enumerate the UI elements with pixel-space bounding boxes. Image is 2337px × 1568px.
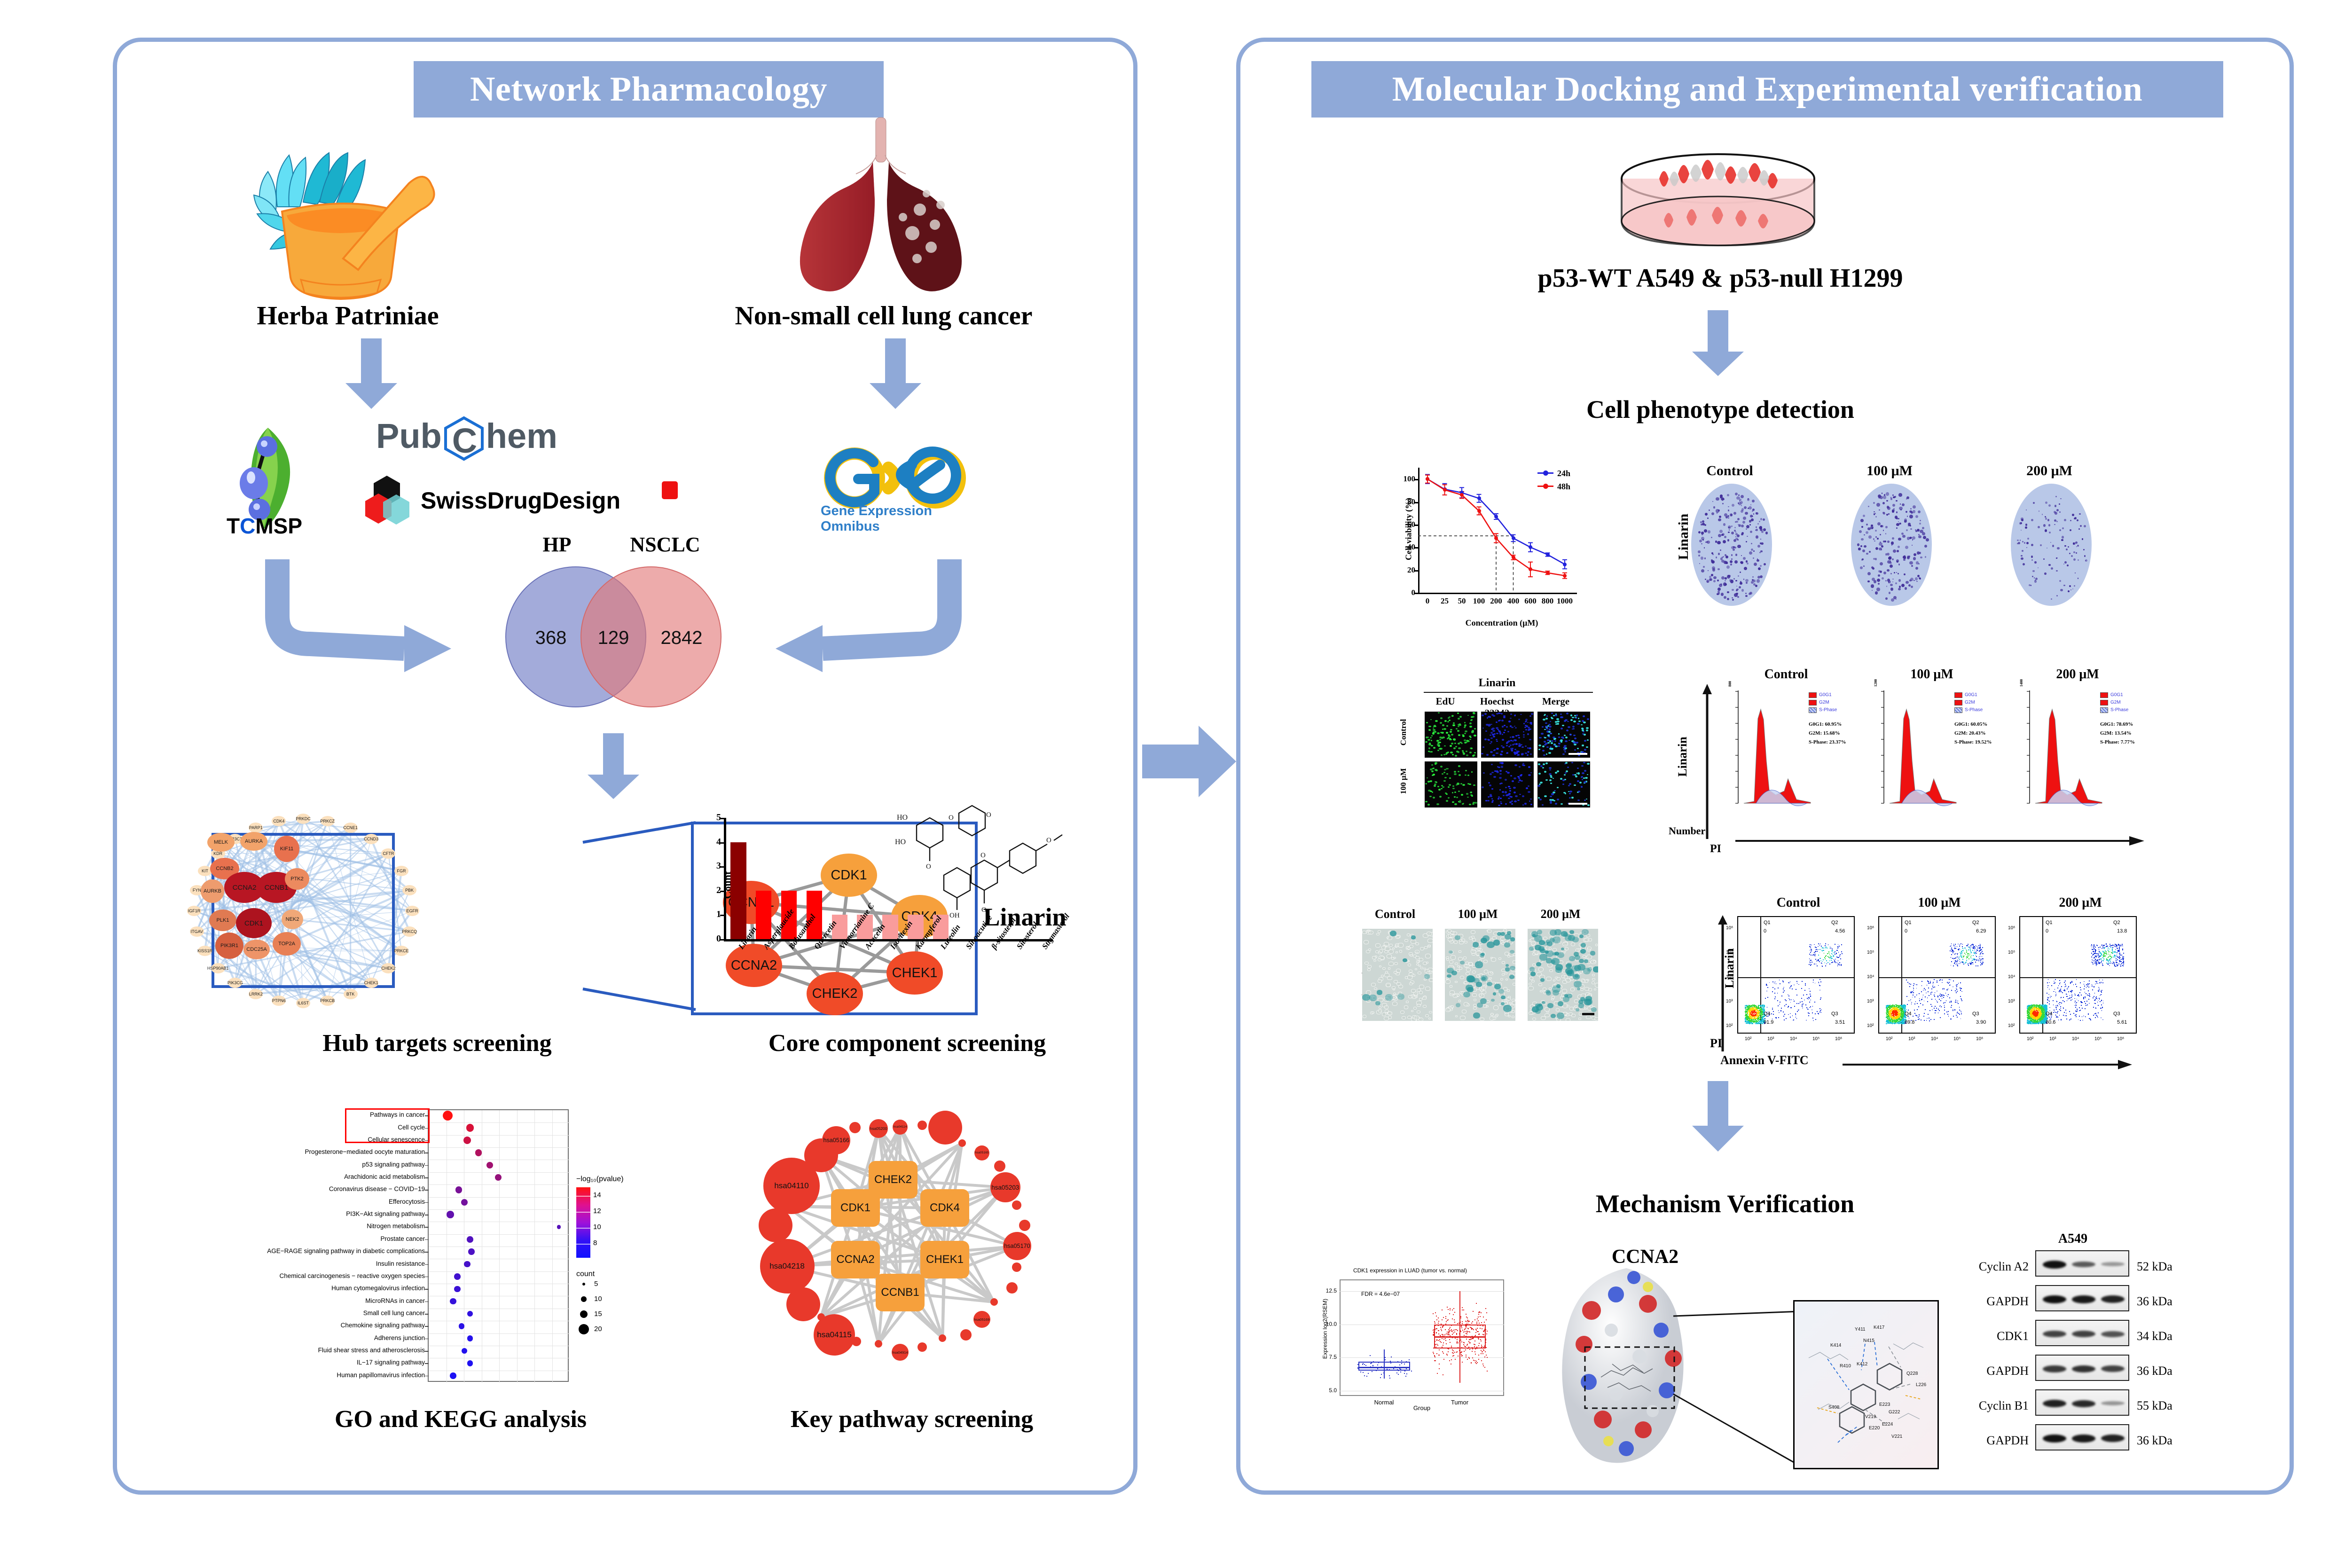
boxplot-ytick: 10.0 <box>1315 1321 1337 1327</box>
boxplot-point <box>1458 1342 1459 1343</box>
boxplot-point <box>1467 1348 1468 1349</box>
boxplot-point <box>1457 1330 1458 1331</box>
pathway-node <box>1019 1220 1030 1231</box>
kegg-tick <box>425 1215 429 1215</box>
boxplot-point <box>1365 1365 1366 1366</box>
boxplot-point <box>1459 1344 1460 1345</box>
boxplot-point <box>1395 1366 1396 1367</box>
boxplot-point <box>1409 1359 1410 1360</box>
flow-quadrant-label: Q4 <box>1764 1011 1771 1017</box>
boxplot-point <box>1381 1374 1382 1375</box>
boxplot-point <box>1440 1335 1441 1336</box>
flow-quadrant-value: 89.8 <box>1905 1019 1914 1025</box>
pathway-node <box>939 1334 946 1342</box>
boxplot-point <box>1442 1309 1443 1310</box>
viability-legend-dot <box>1543 470 1548 476</box>
hub-inner-node: CDC25A <box>243 940 270 959</box>
section-title-key-pathway: Key pathway screening <box>705 1405 1119 1433</box>
boxplot-point <box>1485 1351 1486 1352</box>
dp-gridline <box>429 1160 570 1160</box>
boxplot-point <box>1452 1334 1453 1335</box>
bar-ytick: 0 <box>708 933 721 944</box>
boxplot-point <box>1435 1329 1435 1330</box>
boxplot-point <box>1474 1319 1475 1320</box>
boxplot-point <box>1454 1352 1455 1353</box>
boxplot-point <box>1466 1339 1467 1340</box>
boxplot-point <box>1482 1325 1483 1326</box>
dp-gridline <box>429 1284 570 1284</box>
cellcycle-legend-label: S-Phase <box>2110 707 2128 713</box>
pathway-node <box>928 1111 962 1145</box>
kegg-dot <box>454 1273 461 1280</box>
boxplot-point <box>1464 1342 1465 1343</box>
boxplot-point <box>1460 1331 1461 1332</box>
boxplot-point <box>1443 1342 1444 1343</box>
boxplot-point <box>1460 1352 1461 1353</box>
boxplot-point <box>1466 1314 1467 1315</box>
flow-axis-tick: 10⁴ <box>2072 1036 2079 1042</box>
boxplot-point <box>1457 1336 1458 1337</box>
boxplot-point <box>1460 1322 1461 1323</box>
hub-inner-node: CDK1 <box>236 908 272 938</box>
western-blot-panel: A549 Cyclin A252 kDaGAPDH36 kDaCDK134 kD… <box>1969 1241 2233 1462</box>
kegg-size-label: 5 <box>594 1280 598 1288</box>
flow-axis-tick-y: 10² <box>1726 1023 1733 1028</box>
boxplot-point <box>1441 1324 1442 1325</box>
dp-gridline <box>429 1333 570 1334</box>
boxplot-point <box>1477 1328 1478 1329</box>
flow-axis-tick-y: 10³ <box>1867 999 1874 1004</box>
docking-residue-label: E224 <box>1882 1422 1893 1427</box>
docking-residue-label: N415 <box>1863 1338 1874 1343</box>
kegg-legend-size-title: count <box>576 1270 595 1278</box>
boxplot-point <box>1385 1359 1386 1360</box>
boxplot-point <box>1406 1368 1407 1369</box>
boxplot-point <box>1438 1325 1439 1326</box>
boxplot-point <box>1484 1329 1485 1330</box>
boxplot-point <box>1459 1325 1460 1325</box>
boxplot-point <box>1473 1360 1474 1361</box>
boxplot-point <box>1476 1348 1477 1349</box>
bar-ytick: 2 <box>708 885 721 896</box>
boxplot-point <box>1456 1333 1457 1334</box>
boxplot-point <box>1437 1373 1438 1374</box>
boxplot-point <box>1481 1312 1482 1313</box>
venn-label-hp: HP <box>519 533 595 557</box>
pathway-node <box>994 1160 1005 1172</box>
boxplot-point <box>1482 1346 1482 1347</box>
venn-label-nsclc: NSCLC <box>618 533 712 557</box>
docking-residue-label: Y411 <box>1855 1327 1866 1332</box>
boxplot-point <box>1364 1364 1365 1365</box>
boxplot-point <box>1442 1351 1443 1352</box>
kegg-size-dot <box>580 1310 588 1318</box>
boxplot-point <box>1478 1339 1479 1340</box>
hub-outer-node: PRKCZ <box>321 816 335 826</box>
boxplot-point <box>1483 1317 1484 1317</box>
pathway-node <box>958 1139 966 1147</box>
blot-protein-label: GAPDH <box>1949 1434 2029 1448</box>
svg-text:O: O <box>949 814 954 822</box>
cellcycle-histogram: 1400G0G1G2MS-PhaseG0G1: 78.69%G2M: 13.54… <box>2016 687 2153 828</box>
boxplot-point <box>1392 1370 1393 1371</box>
cellcycle-legend-swatch <box>2100 700 2108 706</box>
flow-axis-tick: 10⁴ <box>1790 1036 1797 1042</box>
kegg-dot <box>464 1261 471 1268</box>
boxplot-point <box>1436 1333 1437 1333</box>
hub-inner-node: PIK3R1 <box>215 933 243 959</box>
boxplot-point <box>1360 1372 1361 1372</box>
boxplot-point <box>1465 1325 1466 1326</box>
kegg-colorbar <box>576 1187 590 1258</box>
boxplot-point <box>1438 1330 1439 1331</box>
hub-inner-node: NEK2 <box>282 909 303 929</box>
kegg-colorbar-mark <box>576 1196 590 1197</box>
colony-column-label: Control <box>1673 463 1786 479</box>
boxplot-point <box>1450 1327 1451 1328</box>
boxplot-point <box>1449 1334 1450 1335</box>
swiss-badge-icon <box>662 481 678 499</box>
flow-axis-tick-y: 10³ <box>2008 999 2015 1004</box>
boxplot-point <box>1454 1322 1455 1323</box>
cellcycle-legend-label: G2M <box>1819 700 1829 705</box>
boxplot-point <box>1372 1365 1373 1366</box>
boxplot-point <box>1486 1333 1487 1334</box>
viability-point <box>1477 509 1481 513</box>
boxplot-point <box>1482 1334 1483 1335</box>
hub-selection-box <box>212 833 395 988</box>
hub-outer-node: EGFR <box>405 906 419 916</box>
boxplot-point <box>1478 1359 1479 1360</box>
kegg-size-label: 20 <box>594 1325 602 1333</box>
boxplot-point <box>1471 1329 1472 1330</box>
boxplot-point <box>1476 1323 1477 1324</box>
kegg-term-label: Chemokine signaling pathway <box>263 1322 425 1329</box>
swissdrugdesign-logo-text: SwissDrugDesign <box>421 487 620 514</box>
bar-ytick: 5 <box>708 812 721 823</box>
blot-kda-label: 55 kDa <box>2137 1399 2172 1413</box>
boxplot-point <box>1459 1319 1460 1320</box>
boxplot-point <box>1460 1316 1461 1317</box>
geo-logo: Gene Expression Omnibus <box>818 439 973 510</box>
pathway-node: hsa05170 <box>1003 1232 1031 1260</box>
cellcycle-ymax: 1200 <box>1874 679 1878 687</box>
kegg-tick <box>425 1227 429 1228</box>
apoptosis-flow-panel: Linarin PI Annexin V-FITC ControlQ10Q24.… <box>1711 895 2153 1074</box>
viability-legend-label: 24h <box>1557 469 1570 478</box>
boxplot-point <box>1476 1347 1477 1348</box>
pubchem-logo: Pub C hem <box>376 416 557 459</box>
pathway-gene-node: CCNA2 <box>831 1241 880 1278</box>
flow-axis-tick-y: 10⁵ <box>1726 950 1733 955</box>
boxplot-point <box>1481 1360 1482 1361</box>
hub-outer-node: CCNE1 <box>344 823 358 833</box>
boxplot-point <box>1445 1340 1446 1341</box>
boxplot-point <box>1480 1339 1481 1340</box>
boxplot-point <box>1465 1331 1466 1332</box>
kegg-term-label: Arachidonic acid metabolism <box>263 1173 425 1180</box>
flow-axis-tick-y: 10⁶ <box>1726 925 1733 931</box>
boxplot-point <box>1397 1361 1398 1362</box>
boxplot-point <box>1465 1346 1466 1347</box>
cellcycle-legend-label: G2M <box>1965 700 1975 705</box>
hub-outer-node: FGR <box>394 866 408 876</box>
cellcycle-stat: G2M: 15.68% <box>1809 730 1840 736</box>
boxplot-point <box>1446 1354 1447 1355</box>
edu-row-label: Control <box>1399 706 1408 758</box>
bar-ytick-mark <box>720 818 725 819</box>
arrow-dish-to-phenotype <box>1692 310 1744 376</box>
boxplot-point <box>1435 1312 1436 1313</box>
boxplot-point <box>1477 1331 1478 1332</box>
hub-outer-node: PRKDC <box>296 814 310 824</box>
boxplot-point <box>1406 1373 1407 1374</box>
cellcycle-legend-label: G0G1 <box>1819 692 1832 698</box>
hub-inner-node: PLK1 <box>209 909 236 931</box>
blot-protein-label: GAPDH <box>1949 1364 2029 1378</box>
cellcycle-stat: G0G1: 60.95% <box>1809 721 1842 727</box>
cellcycle-legend-swatch <box>1809 700 1817 706</box>
boxplot-point <box>1461 1326 1462 1327</box>
boxplot-point <box>1435 1356 1435 1357</box>
boxplot-point <box>1460 1317 1461 1318</box>
boxplot-point <box>1471 1327 1472 1328</box>
boxplot-point <box>1443 1334 1443 1335</box>
cellcycle-legend-label: S-Phase <box>1819 707 1837 713</box>
boxplot-point <box>1434 1333 1435 1333</box>
boxplot-point <box>1471 1339 1472 1340</box>
boxplot-point <box>1480 1348 1481 1348</box>
boxplot-point <box>1442 1319 1443 1320</box>
senescence-image <box>1362 929 1433 1021</box>
docking-protein-label: CCNA2 <box>1584 1246 1706 1268</box>
boxplot-point <box>1441 1329 1442 1330</box>
boxplot-point <box>1471 1323 1472 1324</box>
boxplot-point <box>1391 1356 1392 1357</box>
boxplot-point <box>1451 1364 1451 1364</box>
boxplot-point <box>1357 1364 1358 1365</box>
boxplot-point <box>1449 1313 1450 1314</box>
kegg-highlight-box <box>345 1108 430 1143</box>
boxplot-point <box>1389 1378 1390 1379</box>
colony-dish <box>1851 484 1932 606</box>
kegg-size-dot <box>582 1283 585 1286</box>
docking-residue-label: K414 <box>1830 1343 1842 1348</box>
kegg-dot <box>475 1149 482 1156</box>
flow-quadrant-value: 5.61 <box>2117 1019 2127 1025</box>
boxplot-point <box>1474 1337 1475 1338</box>
boxplot-point <box>1459 1348 1460 1349</box>
boxplot-point <box>1452 1325 1453 1325</box>
boxplot-point <box>1384 1361 1385 1362</box>
blot-band-box <box>2035 1424 2129 1450</box>
boxplot-point <box>1478 1317 1479 1317</box>
colony-row-label: Linarin <box>1676 494 1692 579</box>
boxplot-point <box>1372 1371 1372 1372</box>
docking-residue-label: G222 <box>1889 1410 1900 1415</box>
boxplot-point <box>1468 1347 1469 1348</box>
boxplot-point <box>1443 1374 1443 1375</box>
flow-axis-tick-y: 10⁴ <box>1867 974 1874 980</box>
svg-text:O: O <box>986 811 991 819</box>
boxplot-point <box>1433 1313 1434 1314</box>
blot-protein-label: Cyclin A2 <box>1949 1260 2029 1274</box>
hub-target-network: PRKDCPRKCZCCNE1CCND3CFTRFGRPBKEGFRPRKCQP… <box>174 808 588 1029</box>
venn-count-nsclc-only: 2842 <box>653 627 710 649</box>
hub-outer-node: IGF1R <box>187 906 201 916</box>
flow-quadrant-value: 0 <box>1764 928 1766 934</box>
boxplot-point <box>1479 1323 1480 1324</box>
boxplot-point <box>1378 1362 1379 1363</box>
venn-count-intersection: 129 <box>592 627 635 649</box>
boxplot-point <box>1468 1331 1469 1332</box>
cellcycle-panel-title: 100 μM <box>1885 667 1979 682</box>
boxplot-point <box>1437 1345 1438 1346</box>
boxplot-point <box>1467 1320 1468 1321</box>
kegg-dot <box>447 1211 454 1218</box>
boxplot-point <box>1435 1341 1435 1342</box>
boxplot-point <box>1451 1331 1452 1332</box>
boxplot-point <box>1445 1318 1446 1319</box>
kegg-tick <box>425 1326 429 1327</box>
boxplot-point <box>1481 1353 1482 1354</box>
kegg-size-dot <box>579 1324 589 1334</box>
docking-residue-label: Q228 <box>1906 1371 1918 1376</box>
boxplot-point <box>1366 1376 1367 1377</box>
hub-outer-node: KISS1R <box>198 946 212 956</box>
boxplot-point <box>1433 1352 1434 1353</box>
boxplot-point <box>1486 1319 1487 1320</box>
boxplot-point <box>1441 1342 1442 1343</box>
boxplot-point <box>1486 1347 1487 1348</box>
boxplot-gridline <box>1340 1391 1504 1391</box>
boxplot-point <box>1445 1338 1446 1339</box>
boxplot-point <box>1435 1325 1436 1325</box>
boxplot-point <box>1397 1367 1398 1368</box>
viability-legend-dot <box>1543 484 1548 489</box>
boxplot-point <box>1450 1308 1451 1309</box>
kegg-term-label: Human papillomavirus infection <box>263 1372 425 1379</box>
boxplot-point <box>1435 1323 1435 1324</box>
boxplot-point <box>1485 1308 1486 1309</box>
panel-title-network-pharmacology: Network Pharmacology <box>414 61 884 118</box>
viability-point <box>1443 488 1447 492</box>
kegg-term-label: Efferocytosis <box>263 1198 425 1205</box>
boxplot-point <box>1465 1349 1466 1350</box>
dp-gridline <box>429 1358 570 1358</box>
dp-gridline <box>429 1222 570 1222</box>
kegg-tick <box>425 1351 429 1352</box>
boxplot-point <box>1364 1375 1365 1376</box>
boxplot-point <box>1438 1355 1439 1356</box>
boxplot-point <box>1461 1327 1462 1328</box>
kegg-dot <box>461 1199 468 1206</box>
dp-gridline <box>429 1234 570 1235</box>
boxplot-point <box>1399 1368 1400 1369</box>
boxplot-point <box>1466 1356 1467 1357</box>
boxplot-point <box>1448 1329 1449 1330</box>
boxplot-point <box>1442 1327 1443 1328</box>
boxplot-point <box>1442 1334 1443 1335</box>
boxplot-point <box>1478 1338 1479 1339</box>
boxplot-point <box>1443 1345 1443 1346</box>
bar-ytick-mark <box>720 939 725 941</box>
kegg-dot <box>467 1360 473 1366</box>
boxplot-point <box>1474 1341 1475 1341</box>
senescence-column-label: Control <box>1357 907 1433 921</box>
svg-text:HO: HO <box>897 814 908 822</box>
cellcycle-legend-label: S-Phase <box>1965 707 1983 713</box>
kegg-colorbar-tick: 12 <box>593 1207 601 1215</box>
viability-point <box>1512 556 1515 559</box>
senescence-image <box>1528 929 1598 1021</box>
viability-point <box>1563 574 1567 578</box>
dp-gridline <box>429 1135 570 1136</box>
kegg-size-label: 15 <box>594 1310 602 1318</box>
boxplot-point <box>1371 1363 1372 1364</box>
boxplot-point <box>1436 1316 1437 1317</box>
boxplot-point <box>1438 1321 1439 1322</box>
boxplot-point <box>1411 1371 1412 1372</box>
kegg-legend-color-title: −log₁₀(pvalue) <box>576 1175 624 1184</box>
cellcycle-stat: S-Phase: 23.37% <box>1809 739 1846 745</box>
boxplot-point <box>1461 1347 1462 1348</box>
dp-gridline <box>429 1271 570 1272</box>
boxplot-point <box>1452 1318 1453 1319</box>
boxplot-point <box>1478 1320 1479 1321</box>
bar-ytick: 3 <box>708 861 721 871</box>
boxplot-point <box>1449 1339 1450 1340</box>
dp-gridline <box>429 1122 570 1123</box>
mortar-and-herbs-illustration <box>249 136 447 301</box>
kegg-tick <box>425 1252 429 1253</box>
boxplot-point <box>1437 1340 1438 1341</box>
kegg-dot <box>466 1124 474 1131</box>
boxplot-point <box>1357 1368 1358 1369</box>
kegg-term-label: Chemical carcinogenesis − reactive oxyge… <box>263 1272 425 1279</box>
docking-residue-label: E223 <box>1879 1402 1890 1407</box>
senescence-assay: Linarin Control100 μM200 μM <box>1354 907 1603 1058</box>
boxplot-point <box>1485 1329 1486 1330</box>
boxplot-point <box>1463 1344 1464 1345</box>
boxplot-point <box>1485 1335 1486 1336</box>
boxplot-point <box>1401 1363 1402 1364</box>
kegg-term-label: MicroRNAs in cancer <box>263 1297 425 1304</box>
arrow-herb-to-db <box>345 338 397 409</box>
flow-axis-tick: 10⁶ <box>1835 1036 1842 1042</box>
bar-ytick-mark <box>720 842 725 844</box>
boxplot-point <box>1439 1368 1440 1369</box>
boxplot-group-label: Normal <box>1351 1399 1417 1406</box>
kegg-colorbar-tick: 8 <box>593 1239 597 1247</box>
boxplot-point <box>1481 1345 1482 1346</box>
boxplot-point <box>1462 1355 1463 1356</box>
boxplot-point <box>1472 1336 1473 1337</box>
kegg-tick <box>425 1363 429 1364</box>
colony-formation-assay: Linarin Control100 μM200 μM <box>1659 463 2143 623</box>
colony-column-label: 200 μM <box>1993 463 2106 479</box>
boxplot-title: CDK1 expression in LUAD (tumor vs. norma… <box>1311 1267 1509 1274</box>
boxplot-point <box>1445 1324 1446 1325</box>
boxplot-point <box>1440 1327 1441 1328</box>
viability-legend-label: 48h <box>1557 482 1570 492</box>
boxplot-ytick: 12.5 <box>1315 1287 1337 1294</box>
hub-outer-node: HSP90AB1 <box>211 963 225 973</box>
blot-protein-label: CDK1 <box>1949 1329 2029 1343</box>
boxplot-point <box>1444 1334 1445 1335</box>
boxplot-point <box>1434 1360 1435 1361</box>
colony-column-label: 100 μM <box>1833 463 1946 479</box>
